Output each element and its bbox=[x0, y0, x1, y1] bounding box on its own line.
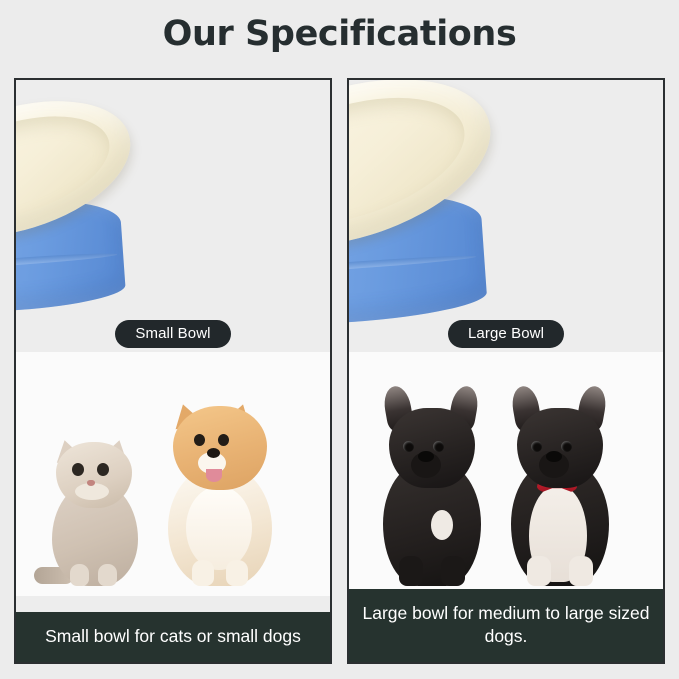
frenchie-tuxedo-eye-right bbox=[561, 441, 572, 452]
pomeranian-leg-left bbox=[192, 560, 214, 586]
pet-cat bbox=[42, 426, 146, 586]
panel-large-bowl-body: Large Bowl bbox=[349, 80, 663, 589]
frenchie-black-leg-right bbox=[441, 556, 465, 586]
infographic-page: Our Specifications Small Bowl bbox=[0, 0, 679, 679]
caption-large-bowl: Large bowl for medium to large sized dog… bbox=[349, 589, 663, 662]
frenchie-tuxedo-leg-left bbox=[527, 556, 551, 586]
frenchie-tuxedo-leg-right bbox=[569, 556, 593, 586]
frenchie-black-eye-left bbox=[403, 441, 414, 452]
frenchie-tuxedo-eye-left bbox=[531, 441, 542, 452]
cat-leg-right bbox=[98, 564, 117, 586]
large-bowl-badge-row: Large Bowl bbox=[349, 320, 663, 348]
panel-large-bowl[interactable]: Large Bowl bbox=[347, 78, 665, 664]
pomeranian-nose bbox=[207, 448, 220, 458]
panel-small-bowl-body: Small Bowl bbox=[16, 80, 330, 612]
caption-small-bowl: Small bowl for cats or small dogs bbox=[16, 612, 330, 662]
cat-eye-right bbox=[97, 463, 109, 476]
small-bowl-badge-row: Small Bowl bbox=[16, 320, 330, 348]
small-bowl-product-image bbox=[16, 80, 330, 330]
large-bowl-pets-photo bbox=[349, 352, 663, 589]
frenchie-black-chest-patch bbox=[431, 510, 453, 540]
pomeranian-eye-right bbox=[218, 434, 229, 446]
small-bowl-pets-photo bbox=[16, 352, 330, 596]
frenchie-black-nose bbox=[418, 451, 434, 462]
pomeranian-chest bbox=[186, 486, 252, 570]
badge-large-bowl: Large Bowl bbox=[448, 320, 564, 348]
pet-pomeranian bbox=[156, 390, 284, 586]
cat-eye-left bbox=[72, 463, 84, 476]
cat-nose bbox=[87, 480, 95, 486]
cat-leg-left bbox=[70, 564, 89, 586]
pomeranian-tongue bbox=[206, 469, 222, 482]
badge-small-bowl: Small Bowl bbox=[115, 320, 230, 348]
pet-french-bulldog-black bbox=[373, 388, 491, 586]
pomeranian-leg-right bbox=[226, 560, 248, 586]
frenchie-black-leg-left bbox=[399, 556, 423, 586]
frenchie-tuxedo-nose bbox=[546, 451, 562, 462]
specification-panels: Small Bowl bbox=[14, 78, 665, 664]
panel-small-bowl[interactable]: Small Bowl bbox=[14, 78, 332, 664]
pomeranian-eye-left bbox=[194, 434, 205, 446]
large-bowl-product-image bbox=[349, 80, 663, 330]
pet-french-bulldog-tuxedo bbox=[501, 388, 619, 586]
frenchie-black-eye-right bbox=[433, 441, 444, 452]
page-title: Our Specifications bbox=[0, 14, 679, 54]
